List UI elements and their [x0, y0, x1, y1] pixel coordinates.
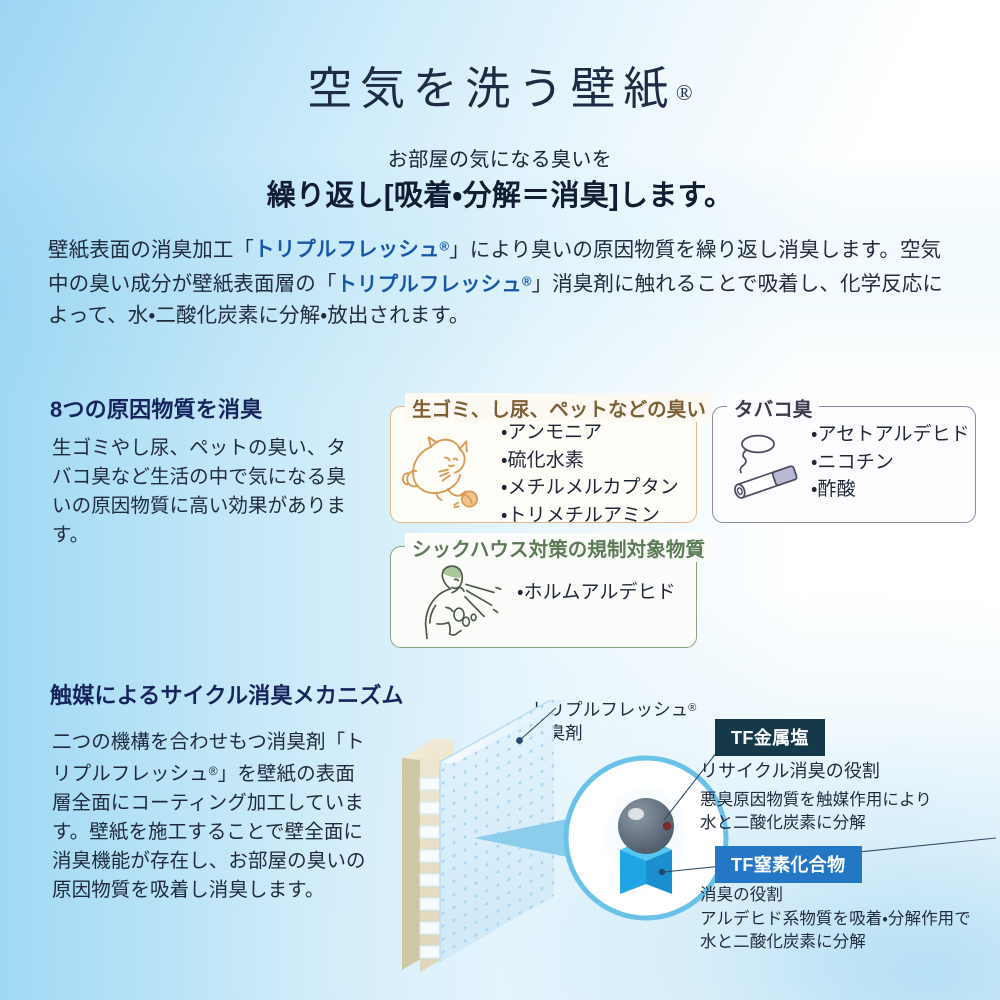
odor-box-tobacco: タバコ臭 ・アセトアルデヒド ・ニコチン ・酢酸 — [712, 406, 976, 523]
odor-box-waste-list: ・アンモニア ・硫化水素 ・メチルメルカプタン ・トリメチルアミン — [501, 419, 679, 529]
list-item: ・ホルムアルデヒド — [517, 579, 676, 607]
page-title-text: 空気を洗う壁紙 — [307, 64, 676, 114]
tf-nitrogen-compound-description-line-1: アルデヒド系物質を吸着・分解作用で — [700, 910, 971, 928]
registered-trademark-icon: ® — [209, 764, 218, 778]
lead-line-2: 繰り返し[吸着・分解＝消臭]します。 — [0, 172, 1000, 214]
cat-ball — [454, 491, 477, 507]
cat-illustration — [401, 431, 497, 514]
registered-trademark-icon: ® — [676, 80, 693, 105]
intro-segment-1: 壁紙表面の消臭加工「 — [48, 238, 254, 261]
tf-metal-salt-description-line-1: 悪臭原因物質を触媒作用により — [700, 791, 932, 809]
brand-name-1-text: トリプルフレッシュ — [254, 238, 439, 261]
odor-box-tobacco-legend: タバコ臭 — [727, 393, 819, 422]
intro-paragraph: 壁紙表面の消臭加工「トリプルフレッシュ®」により臭いの原因物質を繰り返し消臭しま… — [48, 231, 954, 331]
list-item: ・アンモニア — [501, 419, 679, 447]
brand-name-2-text: トリプルフレッシュ — [336, 273, 521, 296]
tf-metal-salt-sphere — [618, 798, 674, 854]
odor-box-sickhouse-list: ・ホルムアルデヒド — [517, 579, 676, 607]
cigarette-illustration — [725, 433, 807, 508]
list-item: ・トリメチルアミン — [501, 502, 679, 530]
odor-box-waste-legend: 生ゴミ、し尿、ペットなどの臭い — [405, 393, 713, 422]
list-item: ・硫化水素 — [501, 447, 679, 475]
cough-lines — [465, 584, 501, 616]
list-item: ・メチルメルカプタン — [501, 474, 679, 502]
mechanism-section-heading: 触媒によるサイクル消臭メカニズム — [50, 678, 404, 710]
odor-box-waste: 生ゴミ、し尿、ペットなどの臭い — [390, 406, 697, 523]
page-title: 空気を洗う壁紙® — [0, 52, 1000, 117]
coughing-person-illustration — [413, 557, 505, 646]
cough-droplets — [454, 608, 476, 626]
tf-metal-salt-description: 悪臭原因物質を触媒作用により 水と二酸化炭素に分解 — [700, 789, 932, 835]
tf-nitrogen-compound-description-line-2: 水と二酸化炭素に分解 — [700, 933, 866, 951]
brand-name-2: トリプルフレッシュ® — [336, 273, 531, 296]
odor-box-sickhouse: シックハウス対策の規制対象物質 — [390, 546, 697, 648]
tf-nitrogen-compound-role: 消臭の役割 — [700, 884, 783, 907]
tf-metal-salt-role: リサイクル消臭の役割 — [700, 760, 880, 783]
registered-trademark-icon: ® — [439, 239, 449, 254]
list-item: ・酢酸 — [811, 476, 970, 504]
list-item: ・アセトアルデヒド — [811, 421, 970, 449]
odor-section-body: 生ゴミやし尿、ペットの臭い、タバコ臭など生活の中で気になる臭いの原因物質に高い効… — [52, 434, 352, 550]
badge-tf-nitrogen-compound: TF窒素化合物 — [715, 846, 862, 883]
odor-box-tobacco-list: ・アセトアルデヒド ・ニコチン ・酢酸 — [811, 421, 970, 504]
mechanism-section-body: 二つの機構を合わせもつ消臭剤「トリプルフレッシュ®」を壁紙の表面層全面にコーティ… — [52, 728, 372, 905]
tf-metal-salt-description-line-2: 水と二酸化炭素に分解 — [700, 814, 866, 832]
lead-line-1: お部屋の気になる臭いを — [0, 143, 1000, 172]
list-item: ・ニコチン — [811, 449, 970, 477]
registered-trademark-icon: ® — [522, 273, 532, 288]
badge-tf-metal-salt: TF金属塩 — [715, 719, 825, 756]
brand-name-1: トリプルフレッシュ® — [254, 238, 449, 261]
tf-nitrogen-compound-description: アルデヒド系物質を吸着・分解作用で 水と二酸化炭素に分解 — [700, 908, 971, 954]
odor-section-heading: 8つの原因物質を消臭 — [50, 392, 262, 424]
